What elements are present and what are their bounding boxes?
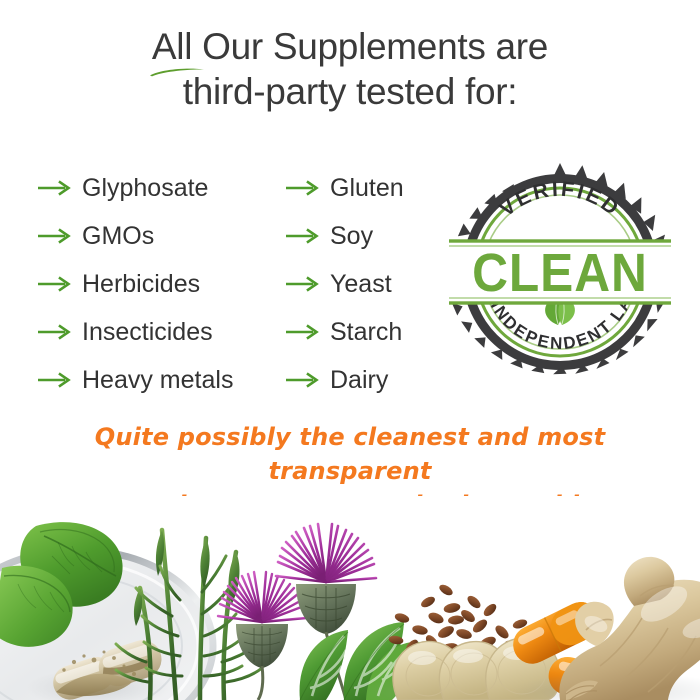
list-item: Herbicides bbox=[38, 260, 284, 308]
verified-clean-seal: VERIFIED BY INDEPENDENT LABS CLEAN bbox=[449, 161, 671, 383]
headline-emphasis-text: All bbox=[152, 26, 192, 67]
tested-for-left-column: Glyphosate GMOs Herbicides bbox=[38, 164, 284, 404]
list-item: Glyphosate bbox=[38, 164, 284, 212]
arrow-right-icon bbox=[286, 372, 320, 388]
headline-emphasis-all: All bbox=[152, 24, 192, 69]
tagline-line-1: Quite possibly the cleanest and most tra… bbox=[20, 420, 680, 488]
arrow-right-icon bbox=[38, 180, 72, 196]
list-item: Soy bbox=[286, 212, 446, 260]
headline-line-1: All Our Supplements are bbox=[0, 24, 700, 69]
arrow-right-icon bbox=[286, 276, 320, 292]
list-item-label: GMOs bbox=[82, 222, 154, 250]
arrow-right-icon bbox=[38, 372, 72, 388]
list-item: Yeast bbox=[286, 260, 446, 308]
infographic-page: All Our Supplements are third-party test… bbox=[0, 0, 700, 700]
list-item: Insecticides bbox=[38, 308, 284, 356]
page-headline: All Our Supplements are third-party test… bbox=[0, 24, 700, 114]
headline-line-2: third-party tested for: bbox=[0, 69, 700, 114]
list-item-label: Herbicides bbox=[82, 270, 200, 298]
list-item-label: Heavy metals bbox=[82, 366, 233, 394]
clean-banner: CLEAN bbox=[449, 241, 671, 303]
list-item: Dairy bbox=[286, 356, 446, 404]
arrow-right-icon bbox=[286, 324, 320, 340]
arrow-right-icon bbox=[286, 180, 320, 196]
headline-line-1-rest: Our Supplements are bbox=[192, 26, 548, 67]
botanical-ingredients-photo bbox=[0, 496, 700, 700]
list-item: GMOs bbox=[38, 212, 284, 260]
list-item: Heavy metals bbox=[38, 356, 284, 404]
list-item-label: Gluten bbox=[330, 174, 404, 202]
list-item-label: Starch bbox=[330, 318, 402, 346]
arrow-right-icon bbox=[38, 276, 72, 292]
list-item-label: Dairy bbox=[330, 366, 388, 394]
tested-for-right-column: Gluten Soy Yeast bbox=[286, 164, 446, 404]
arrow-right-icon bbox=[38, 324, 72, 340]
list-item: Gluten bbox=[286, 164, 446, 212]
list-item-label: Insecticides bbox=[82, 318, 213, 346]
arrow-right-icon bbox=[286, 228, 320, 244]
list-item-label: Soy bbox=[330, 222, 373, 250]
list-item-label: Yeast bbox=[330, 270, 392, 298]
list-item-label: Glyphosate bbox=[82, 174, 208, 202]
seal-center-text: CLEAN bbox=[472, 242, 648, 302]
list-item: Starch bbox=[286, 308, 446, 356]
arrow-right-icon bbox=[38, 228, 72, 244]
